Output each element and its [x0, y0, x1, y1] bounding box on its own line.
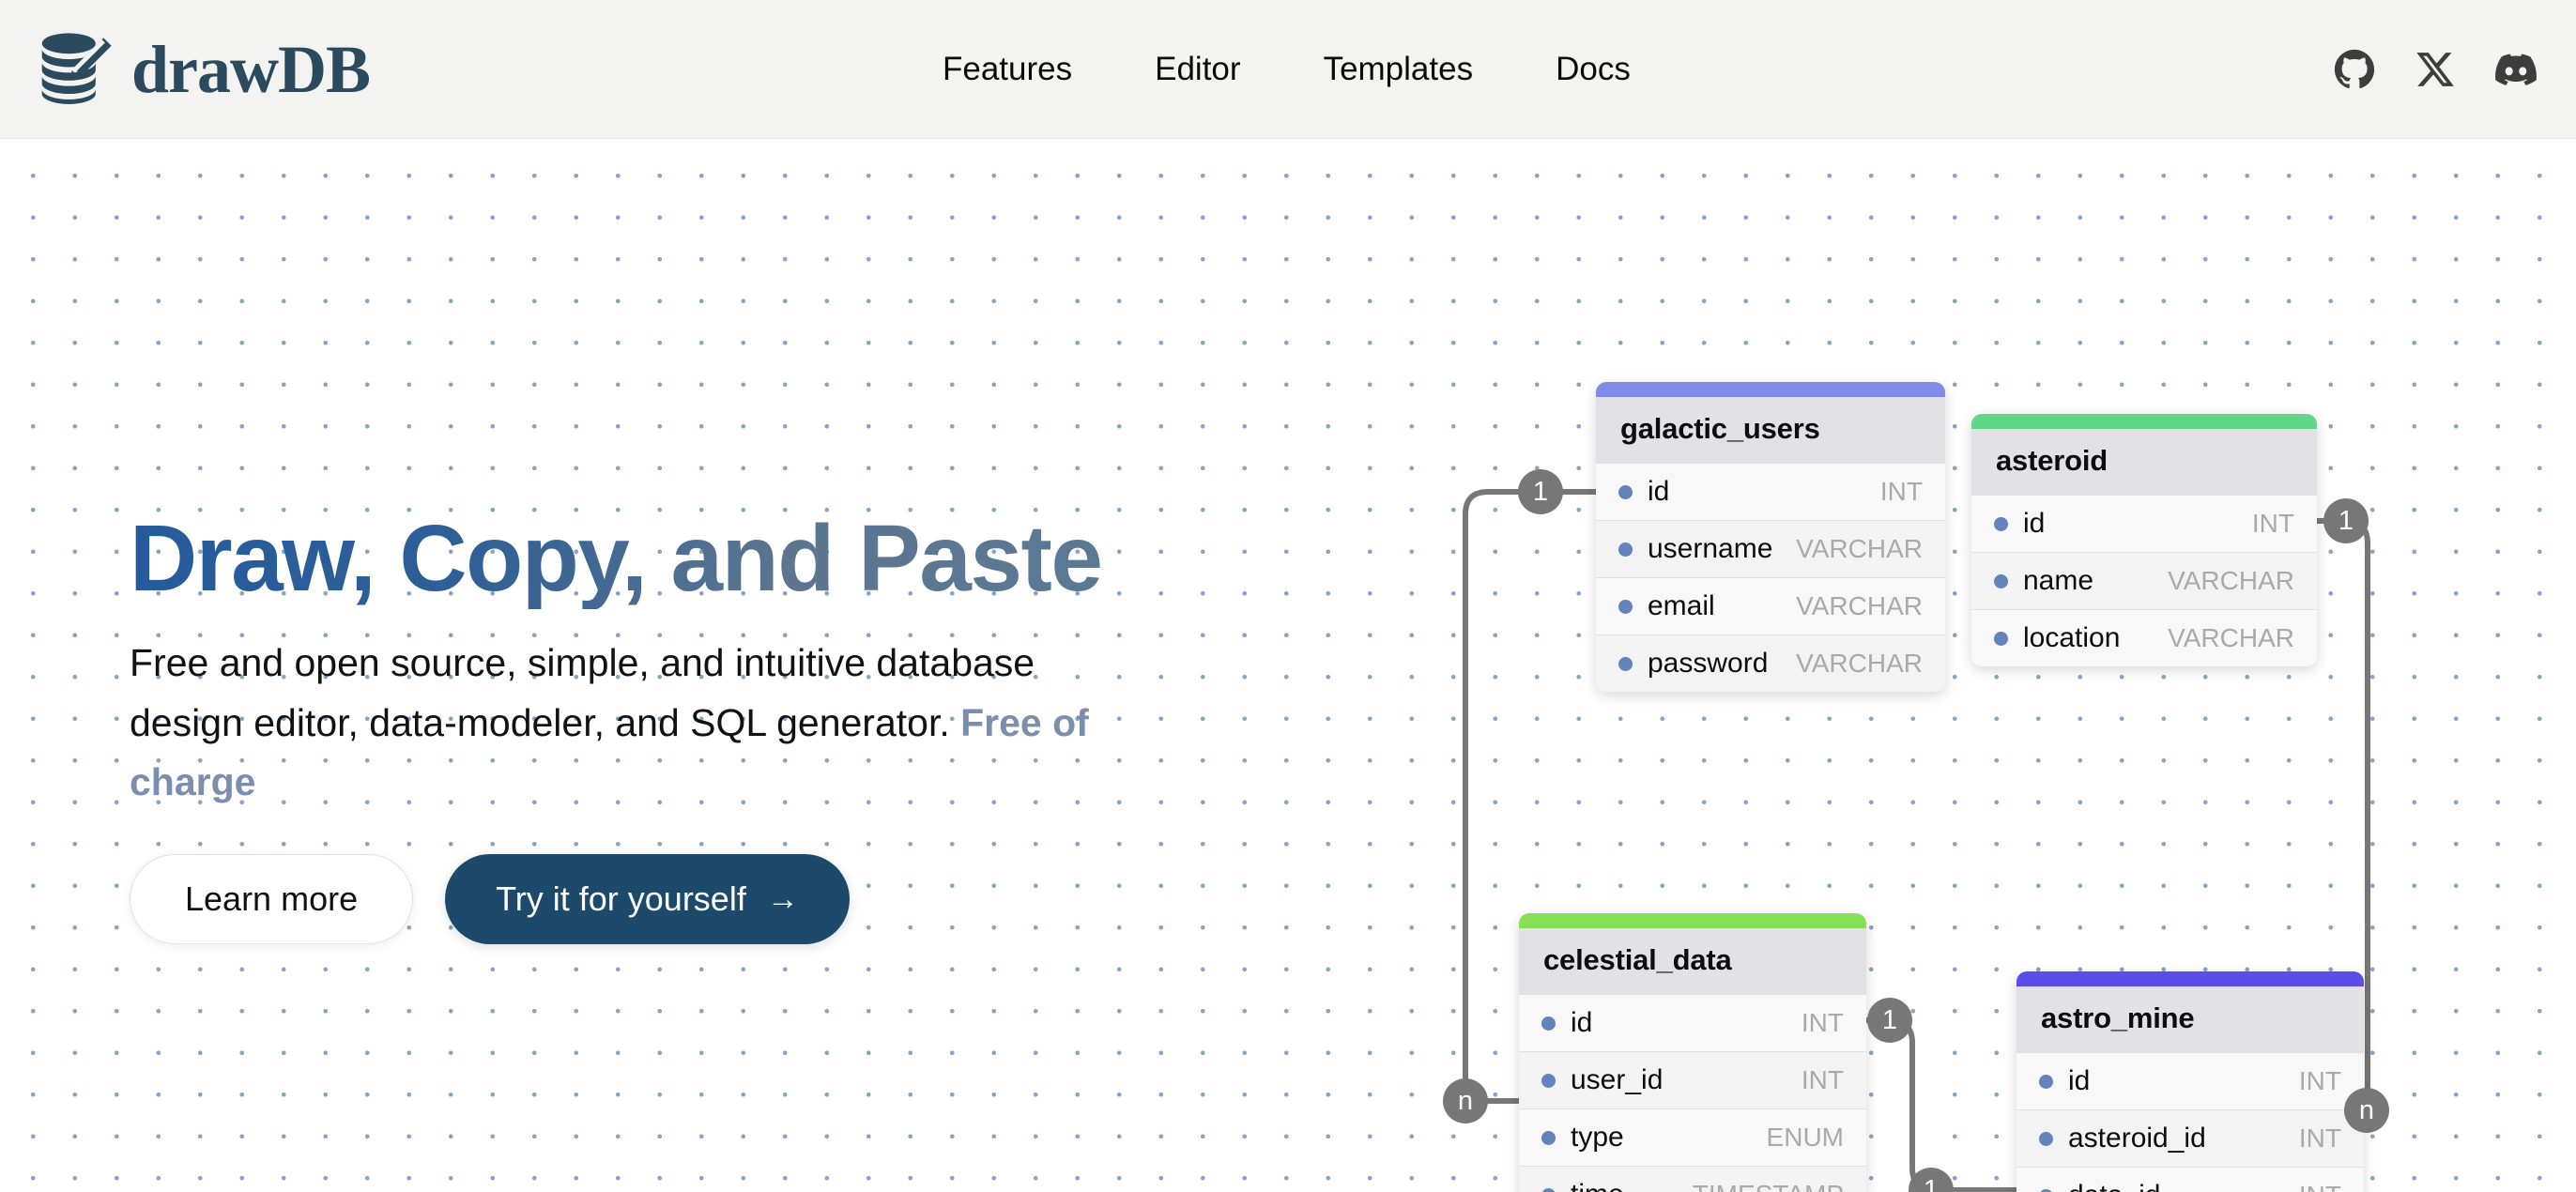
table-accent-bar	[1519, 913, 1866, 928]
field-left: username	[1618, 533, 1772, 565]
field-type: VARCHAR	[1773, 591, 1923, 621]
main-nav: Features Editor Templates Docs	[901, 41, 1672, 98]
field-name: id	[1571, 1007, 1592, 1039]
field-name: name	[2023, 565, 2093, 597]
field-bullet-icon	[1541, 1131, 1556, 1145]
field-bullet-icon	[1618, 600, 1633, 614]
field-left: id	[1618, 476, 1669, 508]
field-name: location	[2023, 622, 2120, 654]
discord-icon[interactable]	[2495, 49, 2537, 90]
field-bullet-icon	[1618, 543, 1633, 557]
learn-more-label: Learn more	[185, 879, 358, 919]
github-icon[interactable]	[2334, 49, 2375, 90]
field-type: VARCHAR	[2145, 566, 2294, 596]
table-field-row[interactable]: emailVARCHAR	[1596, 577, 1945, 634]
table-card-galactic_users[interactable]: galactic_usersidINTusernameVARCHARemailV…	[1596, 382, 1945, 692]
field-name: username	[1648, 533, 1772, 565]
field-left: id	[1994, 508, 2045, 540]
brand-logo-link[interactable]: drawDB	[36, 30, 370, 109]
field-bullet-icon	[1618, 485, 1633, 499]
field-type: INT	[2277, 1123, 2341, 1154]
cardinality-badge-astro-mine-data-id-one[interactable]: 1	[1909, 1168, 1954, 1192]
table-card-astro_mine[interactable]: astro_mineidINTasteroid_idINTdata_idINT	[2016, 971, 2364, 1192]
table-field-row[interactable]: asteroid_idINT	[2016, 1109, 2364, 1167]
field-left: id	[2039, 1065, 2090, 1097]
nav-item-features[interactable]: Features	[901, 41, 1113, 98]
cardinality-badge-celestial-user-id-many[interactable]: n	[1443, 1078, 1488, 1123]
hero-section: Draw, Copy, and Paste Free and open sour…	[130, 508, 1181, 944]
field-left: location	[1994, 622, 2120, 654]
table-accent-bar	[2016, 971, 2364, 986]
table-accent-bar	[1596, 382, 1945, 397]
social-links	[2334, 49, 2537, 90]
field-bullet-icon	[1541, 1188, 1556, 1192]
table-card-asteroid[interactable]: asteroididINTnameVARCHARlocationVARCHAR	[1971, 414, 2317, 666]
site-header: drawDB Features Editor Templates Docs	[0, 0, 2576, 139]
table-field-row[interactable]: idINT	[1971, 495, 2317, 552]
hero-subtitle-text: Free and open source, simple, and intuit…	[130, 641, 1035, 744]
table-field-row[interactable]: nameVARCHAR	[1971, 552, 2317, 609]
field-bullet-icon	[1994, 632, 2008, 646]
field-type: ENUM	[1744, 1123, 1844, 1153]
cardinality-badge-astro-mine-asteroid-id-many[interactable]: n	[2344, 1088, 2389, 1133]
field-left: email	[1618, 590, 1715, 622]
learn-more-button[interactable]: Learn more	[130, 854, 413, 944]
field-type: VARCHAR	[2145, 623, 2294, 653]
field-bullet-icon	[2039, 1075, 2053, 1089]
table-title: asteroid	[1971, 429, 2317, 495]
diagram-canvas[interactable]: galactic_usersidINTusernameVARCHARemailV…	[0, 140, 2576, 1192]
table-card-celestial_data[interactable]: celestial_dataidINTuser_idINTtypeENUMtim…	[1519, 913, 1866, 1192]
table-accent-bar	[1971, 414, 2317, 429]
drawdb-landing-page: galactic_usersidINTusernameVARCHARemailV…	[0, 0, 2576, 1192]
field-name: user_id	[1571, 1064, 1663, 1096]
hero-actions: Learn more Try it for yourself →	[130, 854, 1181, 944]
field-type: INT	[1779, 1008, 1844, 1038]
cardinality-badge-celestial-id-one[interactable]: 1	[1867, 998, 1912, 1043]
database-pencil-logo-icon	[36, 30, 115, 109]
field-name: data_id	[2068, 1180, 2160, 1192]
cardinality-badge-asteroid-id-one[interactable]: 1	[2323, 498, 2369, 543]
field-bullet-icon	[1541, 1016, 1556, 1031]
nav-item-templates[interactable]: Templates	[1282, 41, 1515, 98]
field-left: asteroid_id	[2039, 1123, 2206, 1154]
field-name: type	[1571, 1122, 1624, 1154]
field-bullet-icon	[2039, 1132, 2053, 1146]
field-left: password	[1618, 648, 1768, 680]
cardinality-badge-galactic-users-id-one[interactable]: 1	[1518, 469, 1563, 514]
arrow-right-icon: →	[767, 883, 799, 915]
field-type: VARCHAR	[1773, 534, 1923, 564]
table-field-row[interactable]: data_idINT	[2016, 1167, 2364, 1192]
field-name: id	[2023, 508, 2045, 540]
brand-name: drawDB	[131, 36, 370, 103]
field-left: id	[1541, 1007, 1592, 1039]
field-bullet-icon	[1994, 574, 2008, 588]
nav-item-docs[interactable]: Docs	[1514, 41, 1672, 98]
field-bullet-icon	[1541, 1074, 1556, 1088]
table-title: astro_mine	[2016, 986, 2364, 1052]
field-left: name	[1994, 565, 2093, 597]
field-name: password	[1648, 648, 1768, 680]
table-title: celestial_data	[1519, 928, 1866, 994]
field-type: INT	[2277, 1181, 2341, 1192]
table-field-row[interactable]: passwordVARCHAR	[1596, 634, 1945, 692]
field-type: INT	[2277, 1066, 2341, 1096]
field-type: INT	[1779, 1065, 1844, 1095]
table-field-row[interactable]: idINT	[2016, 1052, 2364, 1109]
table-title: galactic_users	[1596, 397, 1945, 463]
table-field-row[interactable]: timeTIMESTAMP	[1519, 1166, 1866, 1192]
field-left: data_id	[2039, 1180, 2160, 1192]
table-field-row[interactable]: user_idINT	[1519, 1051, 1866, 1108]
try-it-button[interactable]: Try it for yourself →	[445, 854, 850, 944]
field-left: user_id	[1541, 1064, 1663, 1096]
hero-subtitle: Free and open source, simple, and intuit…	[130, 634, 1125, 813]
field-type: INT	[2230, 509, 2294, 539]
field-left: time	[1541, 1179, 1624, 1192]
table-field-row[interactable]: typeENUM	[1519, 1108, 1866, 1166]
nav-item-editor[interactable]: Editor	[1113, 41, 1281, 98]
field-name: id	[2068, 1065, 2090, 1097]
field-name: asteroid_id	[2068, 1123, 2206, 1154]
field-type: VARCHAR	[1773, 649, 1923, 679]
table-field-row[interactable]: usernameVARCHAR	[1596, 520, 1945, 577]
field-left: type	[1541, 1122, 1624, 1154]
field-type: INT	[1858, 477, 1923, 507]
x-twitter-icon[interactable]	[2415, 49, 2456, 90]
table-field-row[interactable]: idINT	[1596, 463, 1945, 520]
link-celestial-astromine	[1866, 1020, 2016, 1190]
field-bullet-icon	[1994, 517, 2008, 531]
table-field-row[interactable]: idINT	[1519, 994, 1866, 1051]
table-field-row[interactable]: locationVARCHAR	[1971, 609, 2317, 666]
field-name: id	[1648, 476, 1669, 508]
try-it-label: Try it for yourself	[496, 879, 746, 919]
field-bullet-icon	[2039, 1189, 2053, 1192]
page-title: Draw, Copy, and Paste	[130, 508, 1181, 609]
field-bullet-icon	[1618, 657, 1633, 671]
field-name: email	[1648, 590, 1715, 622]
field-type: TIMESTAMP	[1670, 1180, 1844, 1192]
field-name: time	[1571, 1179, 1624, 1192]
